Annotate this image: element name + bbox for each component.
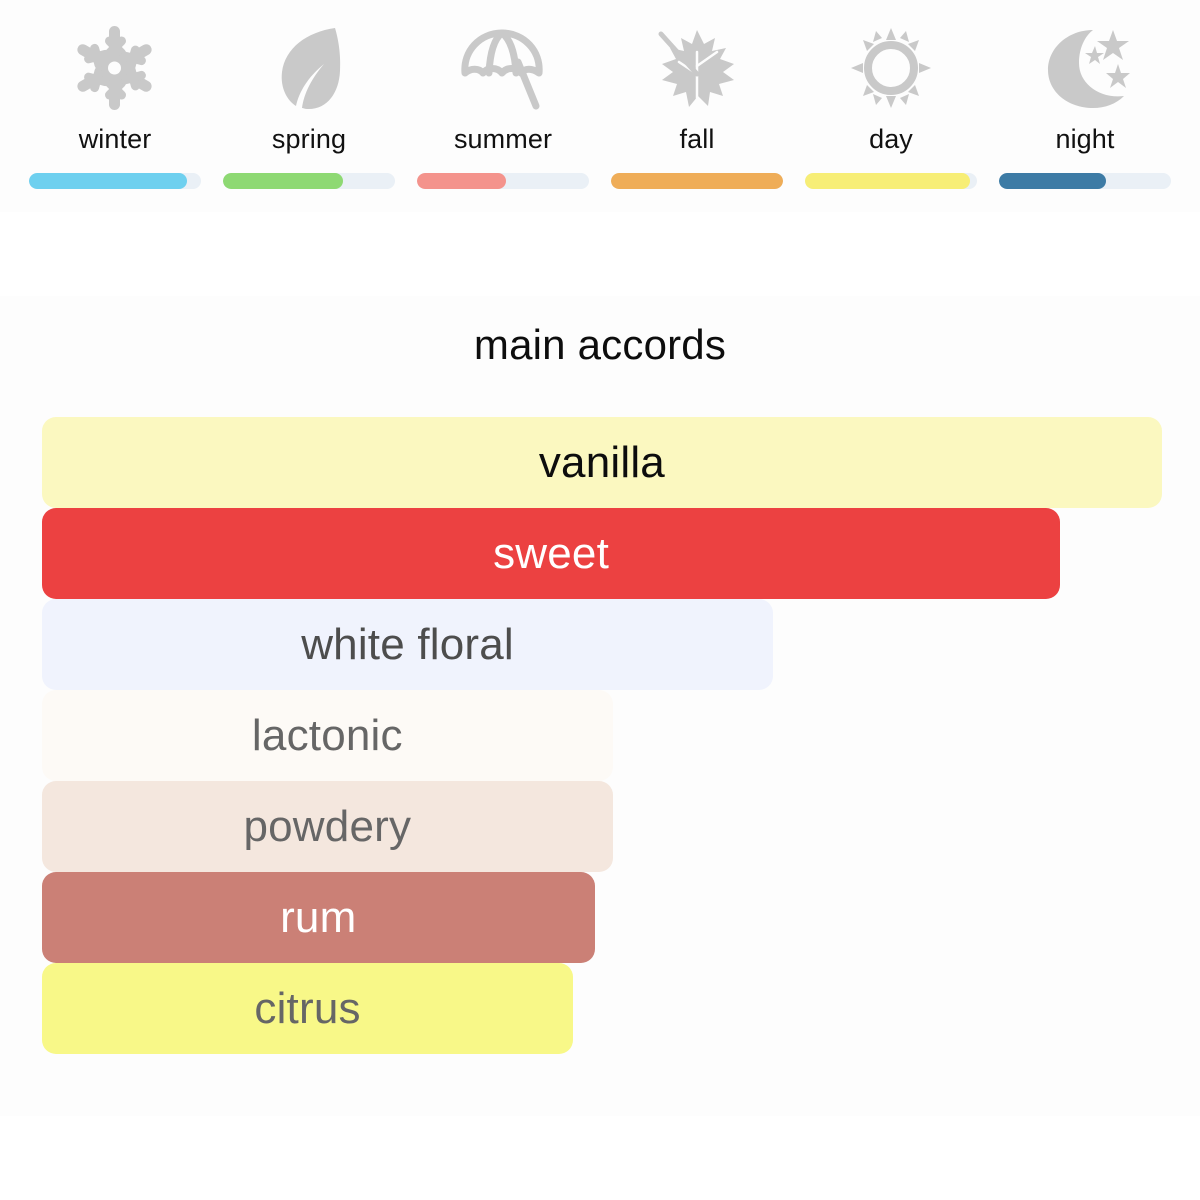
accord-label: citrus [254, 987, 360, 1031]
accord-label: white floral [301, 623, 514, 667]
season-item-fall[interactable]: fall [600, 22, 794, 189]
season-label: winter [79, 126, 152, 153]
season-progress-track-summer[interactable] [417, 173, 589, 189]
maple-leaf-icon [642, 22, 752, 114]
season-label: summer [454, 126, 552, 153]
season-progress-track-day[interactable] [805, 173, 977, 189]
season-item-winter[interactable]: winter [18, 22, 212, 189]
season-label: day [869, 126, 913, 153]
season-progress-fill-winter [29, 173, 187, 189]
season-label: spring [272, 126, 346, 153]
season-progress-fill-day [805, 173, 970, 189]
season-label: fall [680, 126, 715, 153]
season-progress-fill-fall [611, 173, 783, 189]
season-progress-track-winter[interactable] [29, 173, 201, 189]
snowflake-icon [60, 22, 170, 114]
moon-stars-icon [1030, 22, 1140, 114]
season-progress-fill-summer [417, 173, 506, 189]
accord-bar[interactable]: white floral [42, 599, 773, 690]
main-accords-title: main accords [0, 296, 1200, 366]
accord-label: lactonic [252, 714, 403, 758]
beach-umbrella-icon [448, 22, 558, 114]
season-item-spring[interactable]: spring [212, 22, 406, 189]
accords-bar-list: vanilla sweet white floral lactonic powd… [42, 417, 1172, 1054]
season-progress-track-spring[interactable] [223, 173, 395, 189]
sun-icon [836, 22, 946, 114]
season-label: night [1055, 126, 1114, 153]
accord-bar[interactable]: lactonic [42, 690, 613, 781]
season-progress-track-fall[interactable] [611, 173, 783, 189]
accord-label: sweet [493, 532, 609, 576]
accord-bar[interactable]: sweet [42, 508, 1060, 599]
accord-label: vanilla [539, 441, 665, 485]
season-item-summer[interactable]: summer [406, 22, 600, 189]
leaf-icon [254, 22, 364, 114]
season-item-day[interactable]: day [794, 22, 988, 189]
main-accords-panel: main accords vanilla sweet white floral … [0, 296, 1200, 1116]
season-item-night[interactable]: night [988, 22, 1182, 189]
accord-bar[interactable]: rum [42, 872, 595, 963]
fragrance-profile-page: winter spring [0, 0, 1200, 1200]
accord-bar[interactable]: vanilla [42, 417, 1162, 508]
accord-bar[interactable]: citrus [42, 963, 573, 1054]
season-progress-fill-night [999, 173, 1106, 189]
accord-bar[interactable]: powdery [42, 781, 613, 872]
season-progress-track-night[interactable] [999, 173, 1171, 189]
accord-label: powdery [243, 805, 411, 849]
accord-label: rum [280, 896, 356, 940]
seasons-panel: winter spring [0, 0, 1200, 212]
seasons-row: winter spring [18, 0, 1182, 189]
season-progress-fill-spring [223, 173, 343, 189]
